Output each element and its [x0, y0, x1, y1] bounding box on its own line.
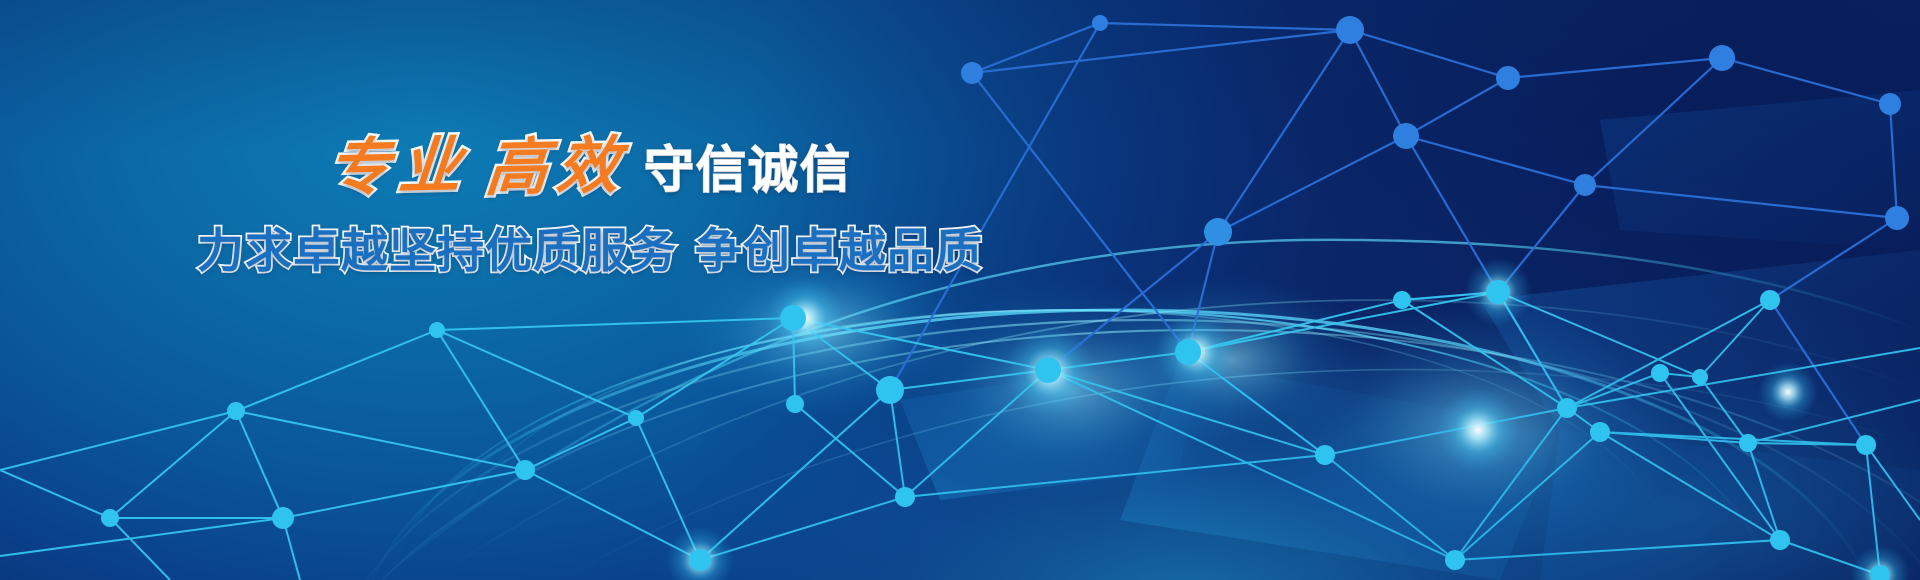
headline-line-1: 专业 高效 守信诚信: [0, 132, 1180, 198]
slogan-sub-2: 争创卓越品质: [695, 224, 983, 279]
headline-line-2: 力求卓越坚持优质服务争创卓越品质: [0, 212, 1180, 281]
slogan-white-1: 守信诚信: [644, 145, 852, 195]
slogan-brush-2: 高效: [483, 135, 631, 200]
headline-block: 专业 高效 守信诚信 力求卓越坚持优质服务争创卓越品质: [0, 132, 1180, 281]
network-nodes-layer: [0, 0, 1920, 580]
node-glows: [666, 258, 1910, 580]
hero-banner: 专业 高效 守信诚信 力求卓越坚持优质服务争创卓越品质: [0, 0, 1920, 580]
slogan-sub-1: 力求卓越坚持优质服务: [197, 224, 677, 279]
slogan-brush-1: 专业: [325, 135, 473, 200]
